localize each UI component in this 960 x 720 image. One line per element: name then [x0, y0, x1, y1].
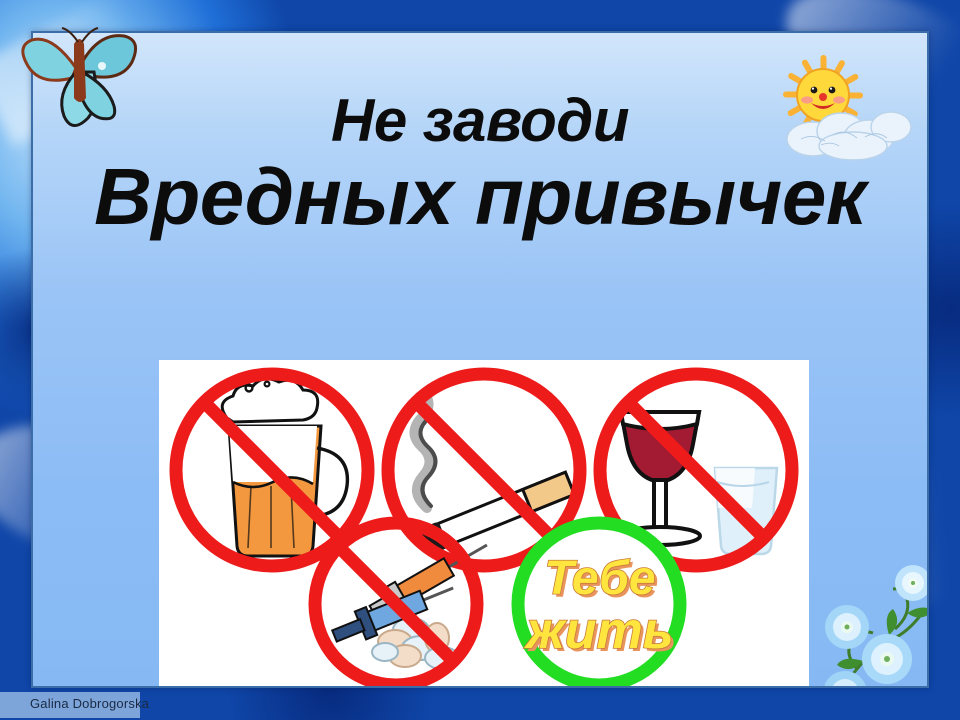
bad-habits-graphic: Тебе Тебе жить жить [159, 360, 809, 688]
flowers-icon [803, 553, 929, 688]
clipart-panel: Тебе Тебе жить жить [159, 360, 809, 688]
watermark-text: Galina Dobrogorska [30, 696, 149, 711]
slide-panel: Не заводи Вредных привычек [31, 31, 929, 688]
slogan-line-1: Тебе [544, 552, 655, 605]
sign-live: Тебе Тебе жить жить [518, 523, 680, 685]
sun-cloud-icon [761, 51, 929, 171]
slide-stage: Не заводи Вредных привычек [0, 0, 960, 720]
slogan-line-2: жить [523, 602, 673, 660]
butterfly-icon [18, 26, 148, 131]
